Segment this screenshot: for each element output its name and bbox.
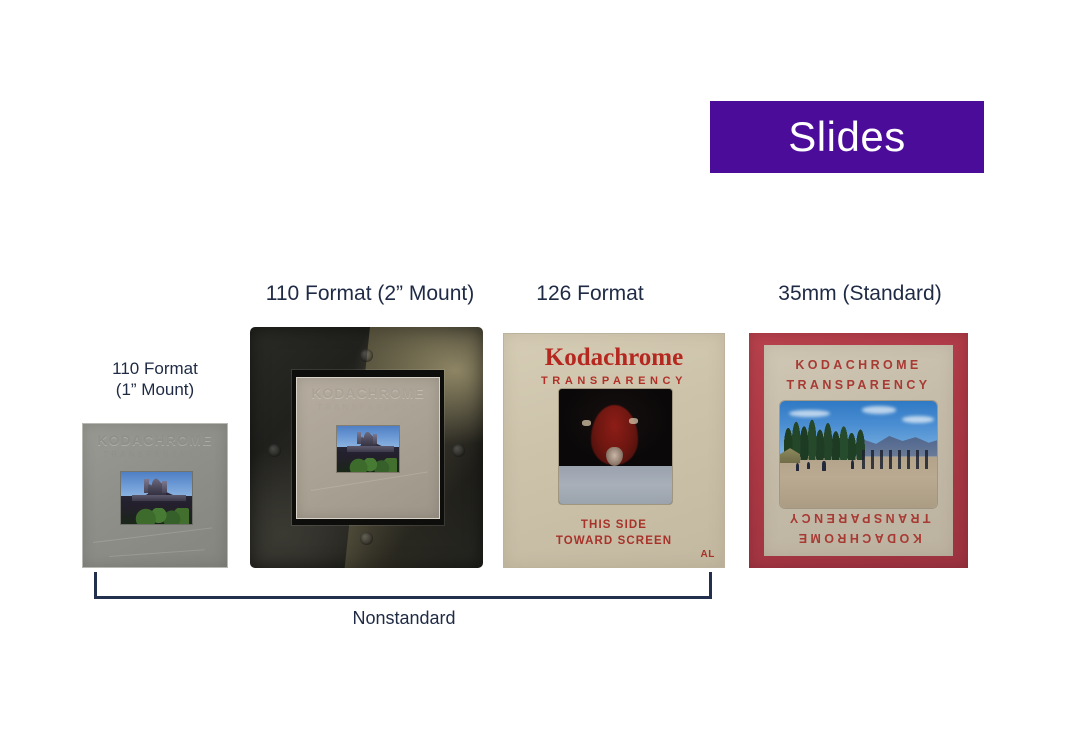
mount-brand-subtext: TRANSPARENCY	[764, 378, 953, 392]
mount-scratch	[311, 472, 428, 491]
mount-scratch	[93, 527, 212, 543]
caption-110-format-1in: 110 Format (1” Mount)	[75, 359, 235, 400]
mount-instruction-line1: THIS SIDE	[504, 518, 724, 534]
photo-castle-tower	[373, 434, 377, 444]
mount-rivet	[452, 444, 465, 457]
photo-foliage	[349, 458, 396, 472]
mount-scratch	[109, 549, 205, 557]
photo-castle-tower	[144, 479, 149, 493]
mount-brand-text: KODACHROME	[764, 358, 953, 372]
slide-aperture-window	[121, 472, 192, 524]
photo-cloud	[862, 406, 897, 413]
slide-image-110-format-2in-mount: KODACHROME TRANSPARENCY	[250, 327, 483, 568]
inner-slide-card: KODACHROME TRANSPARENCY	[296, 377, 440, 519]
photo-castle-on-hill	[337, 426, 399, 472]
mount-brand-subtext: TRANSPARENCY	[504, 375, 724, 387]
mount-brand-subtext-inverted: TRANSPARENCY	[764, 511, 953, 525]
caption-110-format-2in: 110 Format (2” Mount)	[220, 281, 520, 307]
mount-brand-subtext: TRANSPARENCY	[83, 450, 227, 459]
slide-aperture-window	[780, 401, 937, 508]
mount-rivet	[360, 532, 373, 545]
photo-foliage	[135, 508, 189, 524]
photo-castle-tower	[357, 432, 361, 444]
caption-126-format: 126 Format	[490, 281, 690, 307]
photo-parade-ground	[780, 401, 937, 508]
photo-figure	[851, 460, 854, 470]
title-banner: Slides	[710, 101, 984, 173]
slide-image-35mm-standard: KODACHROME TRANSPARENCY TRANSPARENCY KOD…	[749, 333, 968, 568]
photo-figure	[822, 461, 825, 471]
photo-light-lower	[559, 466, 672, 504]
page-title: Slides	[788, 116, 905, 158]
caption-110-format-1in-line1: 110 Format	[75, 359, 235, 380]
slide-aperture-window	[559, 389, 672, 504]
photo-figure	[807, 462, 810, 469]
mount-inner-card: KODACHROME TRANSPARENCY TRANSPARENCY KOD…	[764, 345, 953, 556]
photo-cloud	[789, 410, 830, 417]
mount-brand-text: KODACHROME	[83, 432, 227, 448]
photo-castle-wall	[132, 495, 186, 501]
mount-brand-text-inverted: KODACHROME	[764, 531, 953, 545]
photo-troop-formation	[862, 450, 934, 469]
slide-image-110-format-1in-mount: KODACHROME TRANSPARENCY	[82, 423, 228, 568]
slide-aperture-window	[337, 426, 399, 472]
mount-rivet	[268, 444, 281, 457]
photo-highlight	[629, 418, 638, 424]
mount-corner-code: AL	[700, 549, 715, 560]
caption-110-format-1in-line2: (1” Mount)	[75, 380, 235, 401]
nonstandard-bracket	[94, 572, 712, 599]
photo-castle-wall	[347, 446, 394, 452]
mount-brand-text: KODACHROME	[297, 385, 439, 401]
mount-rivet	[360, 349, 373, 362]
mount-instruction-text: THIS SIDE TOWARD SCREEN	[504, 518, 724, 549]
mount-instruction-line2: TOWARD SCREEN	[504, 534, 724, 550]
photo-dark-portrait	[559, 389, 672, 504]
photo-castle-tower	[162, 481, 167, 492]
mount-brand-subtext: TRANSPARENCY	[297, 403, 439, 412]
photo-figure	[796, 463, 799, 470]
mount-brand-text: Kodachrome	[504, 344, 724, 372]
caption-nonstandard: Nonstandard	[94, 608, 714, 629]
photo-highlight	[582, 420, 591, 426]
photo-castle-on-hill	[121, 472, 192, 524]
slide-image-126-format: Kodachrome TRANSPARENCY THIS SIDE TOWARD…	[503, 333, 725, 568]
caption-35mm-standard: 35mm (Standard)	[735, 281, 985, 307]
